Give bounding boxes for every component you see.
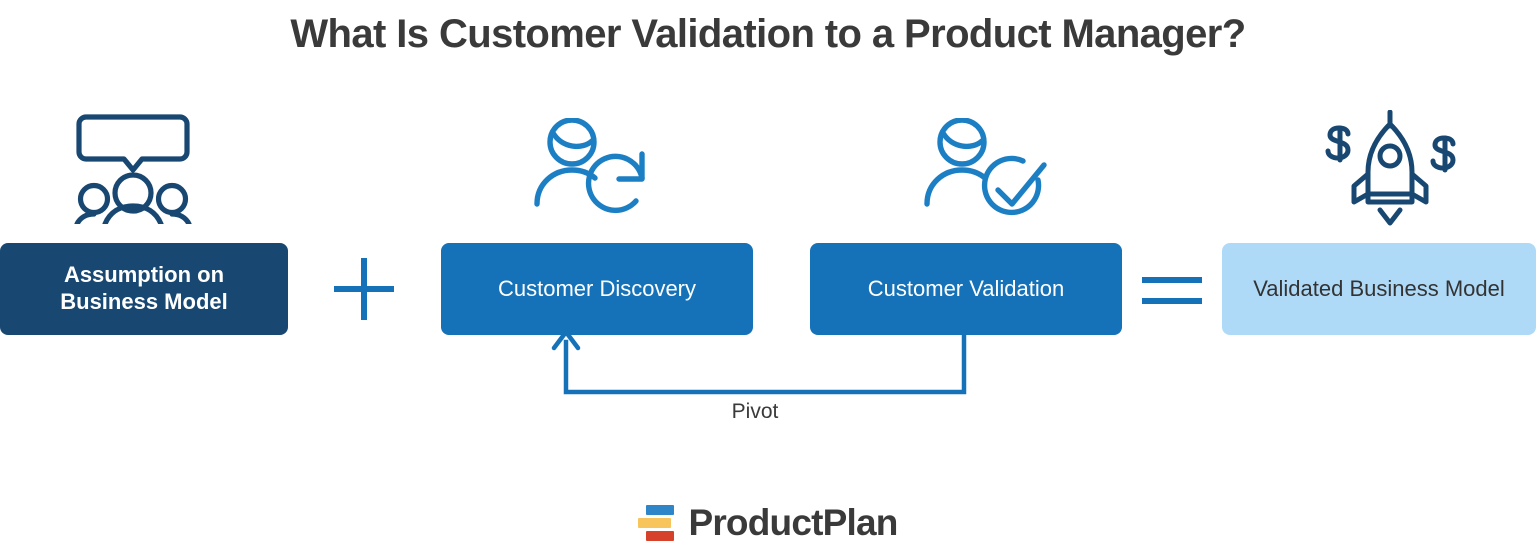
three-bar-logo-icon	[638, 503, 676, 543]
logo-bar-yellow	[638, 518, 671, 528]
pivot-feedback-arrow	[540, 330, 990, 410]
rocket-dollar-icon	[1310, 110, 1470, 226]
people-speech-bubble-icon	[72, 112, 194, 224]
box-validated-label: Validated Business Model	[1253, 276, 1505, 303]
page-title: What Is Customer Validation to a Product…	[0, 12, 1536, 57]
box-discovery-label: Customer Discovery	[498, 276, 696, 303]
box-assumption-label: Assumption on Business Model	[14, 262, 274, 316]
plus-operator-icon	[333, 256, 395, 322]
box-assumption-on-business-model[interactable]: Assumption on Business Model	[0, 243, 288, 335]
equals-operator-icon	[1140, 268, 1204, 312]
diagram-canvas: What Is Customer Validation to a Product…	[0, 0, 1536, 554]
pivot-label: Pivot	[655, 400, 855, 424]
box-validation-label: Customer Validation	[868, 276, 1064, 303]
logo-text: ProductPlan	[688, 502, 897, 544]
logo-bar-blue	[646, 505, 674, 515]
box-customer-validation[interactable]: Customer Validation	[810, 243, 1122, 335]
logo-bar-red	[646, 531, 674, 541]
box-validated-business-model[interactable]: Validated Business Model	[1222, 243, 1536, 335]
person-check-icon	[922, 118, 1048, 224]
person-refresh-icon	[532, 118, 658, 224]
box-customer-discovery[interactable]: Customer Discovery	[441, 243, 753, 335]
productplan-logo: ProductPlan	[0, 495, 1536, 551]
